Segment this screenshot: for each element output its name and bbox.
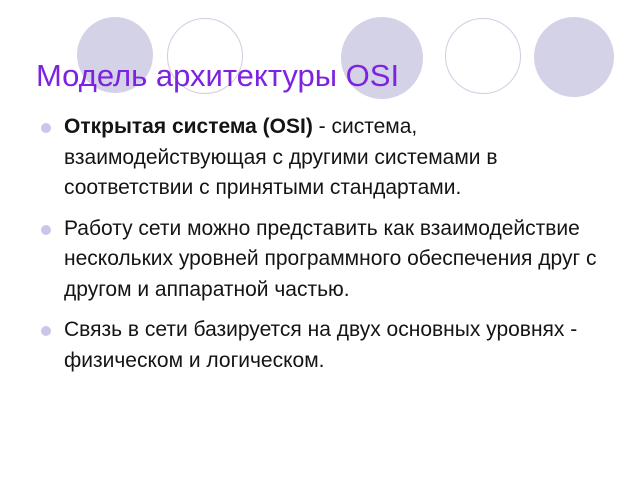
bullet-dot-icon: [41, 123, 51, 133]
list-item: Открытая система (OSI) - система, взаимо…: [36, 112, 606, 204]
bullet-dot-icon: [41, 326, 51, 336]
list-item: Работу сети можно представить как взаимо…: [36, 214, 606, 306]
slide-title: Модель архитектуры OSI: [36, 57, 616, 95]
bullet-text: Работу сети можно представить как взаимо…: [64, 214, 606, 306]
bullet-list: Открытая система (OSI) - система, взаимо…: [36, 112, 606, 386]
bullet-text: Открытая система (OSI) - система, взаимо…: [64, 112, 606, 204]
bullet-text: Связь в сети базируется на двух основных…: [64, 315, 606, 376]
bullet-dot-icon: [41, 225, 51, 235]
list-item: Связь в сети базируется на двух основных…: [36, 315, 606, 376]
bullet-lead-term: Открытая система (OSI): [64, 115, 313, 138]
